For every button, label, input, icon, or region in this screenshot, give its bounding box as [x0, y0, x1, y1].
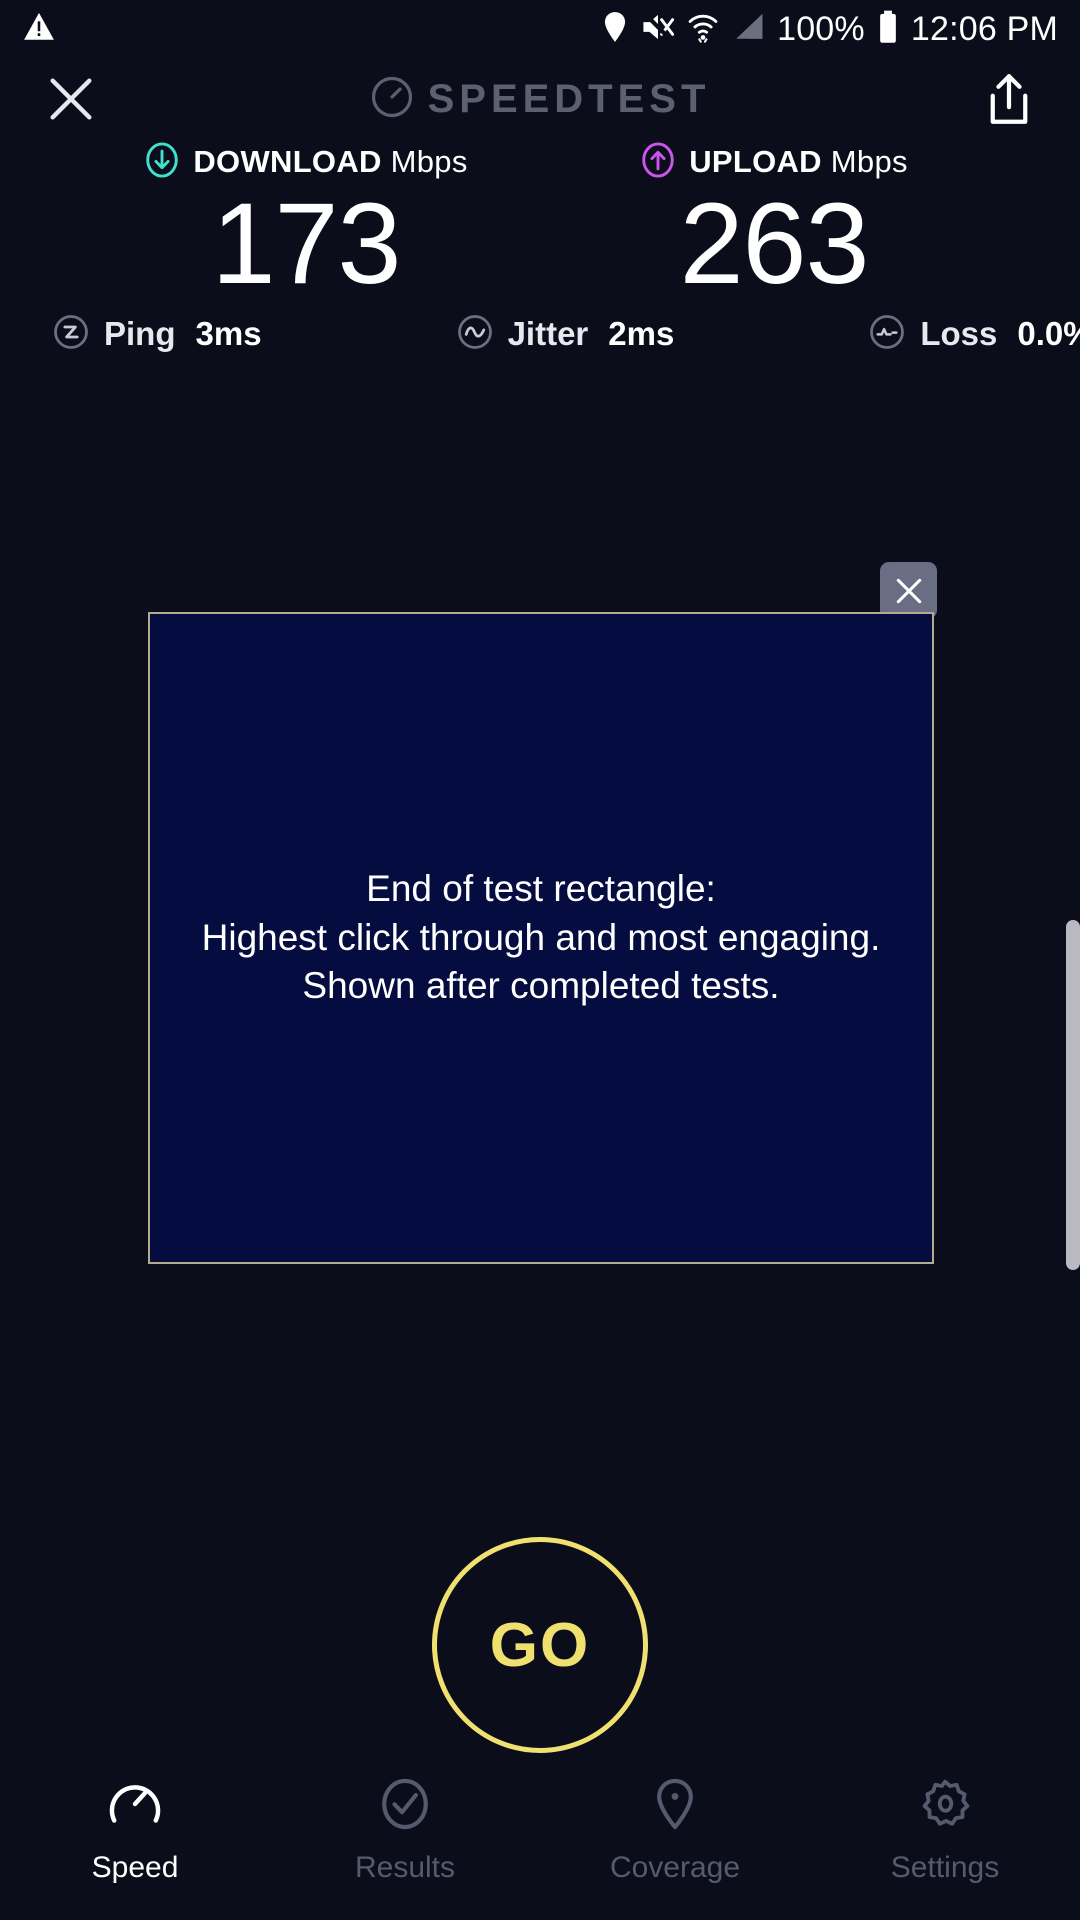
results-row: DOWNLOAD Mbps 173 UPLOAD Mbps 263	[0, 140, 1080, 299]
cellular-signal-icon	[731, 11, 765, 48]
location-pin-icon	[601, 11, 629, 48]
ping-icon	[52, 313, 90, 356]
warning-triangle-icon	[22, 10, 56, 49]
status-bar: 100% 12:06 PM	[0, 0, 1080, 58]
advertisement-text: End of test rectangle: Highest click thr…	[202, 865, 881, 1011]
nav-item-coverage[interactable]: Coverage	[540, 1776, 810, 1885]
close-icon[interactable]	[40, 68, 102, 130]
battery-full-icon	[877, 10, 899, 49]
upload-header: UPLOAD Mbps	[640, 140, 908, 184]
nav-label-coverage: Coverage	[610, 1851, 740, 1885]
nav-label-results: Results	[355, 1851, 455, 1885]
wifi-icon	[687, 11, 719, 48]
volume-mute-icon	[641, 11, 675, 48]
advertisement-banner[interactable]: End of test rectangle: Highest click thr…	[148, 612, 934, 1264]
upload-label: UPLOAD Mbps	[689, 144, 908, 180]
arrow-down-circle-icon	[144, 142, 180, 183]
nav-label-speed: Speed	[92, 1851, 179, 1885]
battery-percent-label: 100%	[777, 12, 865, 46]
download-label: DOWNLOAD Mbps	[193, 144, 467, 180]
check-circle-icon	[377, 1776, 433, 1837]
gear-icon	[917, 1776, 973, 1837]
app-header: SPEEDTEST	[0, 58, 1080, 140]
metric-jitter: Jitter 2ms	[456, 313, 675, 356]
metric-ping: Ping 3ms	[52, 313, 262, 356]
ping-value: 3ms	[196, 315, 262, 353]
nav-item-speed[interactable]: Speed	[0, 1776, 270, 1885]
go-button[interactable]: GO	[432, 1537, 648, 1753]
ad-close-icon[interactable]	[880, 562, 937, 619]
jitter-icon	[456, 313, 494, 356]
status-bar-right: 100% 12:06 PM	[601, 10, 1058, 49]
download-value: 173	[212, 190, 401, 299]
test-results: DOWNLOAD Mbps 173 UPLOAD Mbps 263	[0, 140, 1080, 299]
speedometer-icon	[107, 1776, 163, 1837]
download-header: DOWNLOAD Mbps	[144, 140, 467, 184]
ping-label: Ping	[104, 315, 176, 353]
loss-value: 0.0%	[1017, 315, 1080, 353]
download-result: DOWNLOAD Mbps 173	[111, 140, 501, 299]
bottom-navigation: Speed Results Coverage	[0, 1762, 1080, 1920]
loss-label: Loss	[920, 315, 997, 353]
network-metrics-row: Ping 3ms Jitter 2ms Los	[0, 305, 1080, 363]
brand: SPEEDTEST	[370, 75, 711, 124]
upload-value: 263	[680, 190, 869, 299]
nav-item-results[interactable]: Results	[270, 1776, 540, 1885]
jitter-label: Jitter	[508, 315, 589, 353]
metric-loss: Loss 0.0%	[868, 313, 1080, 356]
nav-label-settings: Settings	[891, 1851, 999, 1885]
nav-item-settings[interactable]: Settings	[810, 1776, 1080, 1885]
speedometer-icon	[370, 75, 414, 124]
speedtest-app-screen: 100% 12:06 PM SPEEDTEST	[0, 0, 1080, 1920]
scrollbar-thumb[interactable]	[1066, 920, 1080, 1270]
loss-icon	[868, 313, 906, 356]
jitter-value: 2ms	[608, 315, 674, 353]
map-pin-icon	[647, 1776, 703, 1837]
clock-label: 12:06 PM	[911, 12, 1058, 46]
go-button-label: GO	[490, 1610, 590, 1681]
status-bar-left	[22, 10, 56, 49]
upload-result: UPLOAD Mbps 263	[579, 140, 969, 299]
page-title: SPEEDTEST	[428, 77, 711, 122]
arrow-up-circle-icon	[640, 142, 676, 183]
share-icon[interactable]	[978, 68, 1040, 130]
